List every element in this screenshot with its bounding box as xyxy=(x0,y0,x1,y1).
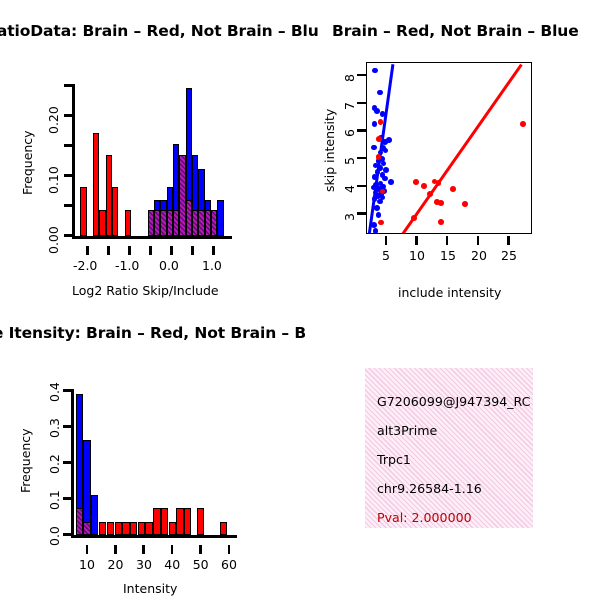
scatter-ylabel: skip intensity xyxy=(322,109,337,192)
scatter-point xyxy=(388,179,394,185)
hist-bar xyxy=(184,508,191,535)
scatter-point xyxy=(421,183,427,189)
scatter-x-tick-20 xyxy=(477,236,480,245)
hist-bar xyxy=(122,522,129,535)
scatter-xlabel: include intensity xyxy=(398,285,501,300)
scatter-y-tick-8 xyxy=(357,74,366,77)
hist-bar xyxy=(161,508,168,535)
hist-bar xyxy=(169,522,176,535)
scatter-point xyxy=(372,68,378,74)
scatter-y-tick-6 xyxy=(357,129,366,132)
info-line-2: Trpc1 xyxy=(377,452,411,467)
info-line-4: Pval: 2.000000 xyxy=(377,510,472,525)
hist-bar-overlap xyxy=(83,522,90,535)
scatter-point xyxy=(372,121,378,127)
panel-intensity-scatter: Brain – Red, Not Brain – Blue skip inten… xyxy=(300,0,600,300)
scatter-x-ticklabel-2: 15 xyxy=(440,248,456,263)
hist-bar xyxy=(153,508,160,535)
scatter-y-ticklabel-0: 3 xyxy=(342,213,357,221)
hist-bar xyxy=(99,522,106,535)
scatter-y-tick-4 xyxy=(357,185,366,188)
hist-bar xyxy=(115,522,122,535)
scatter-y-tick-3 xyxy=(357,212,366,215)
scatter-point xyxy=(376,212,382,218)
panel-ratio-histogram: RatioData: Brain – Red, Not Brain – Blu … xyxy=(0,0,300,300)
scatter-y-ticklabel-5: 8 xyxy=(342,74,357,82)
scatter-point xyxy=(383,148,389,154)
hist-bar xyxy=(217,200,223,236)
scatter-point xyxy=(520,121,526,127)
hist-bar xyxy=(130,522,137,535)
scatter-y-tick-5 xyxy=(357,157,366,160)
scatter-y-tick-7 xyxy=(357,102,366,105)
info-line-1: alt3Prime xyxy=(377,423,437,438)
scatter-point xyxy=(438,219,444,225)
scatter-point xyxy=(373,228,379,234)
hist-bar xyxy=(176,508,183,535)
scatter-x-tick-25 xyxy=(507,236,510,245)
scatter-point xyxy=(377,199,383,205)
scatter-point xyxy=(378,220,384,226)
scatter-point xyxy=(438,200,444,206)
scatter-plot-area xyxy=(366,62,532,234)
hist-bar xyxy=(112,187,118,236)
scatter-point xyxy=(380,111,386,117)
scatter-x-tick-10 xyxy=(415,236,418,245)
scatter-point xyxy=(371,145,377,151)
scatter-point xyxy=(413,179,419,185)
scatter-x-ticklabel-4: 25 xyxy=(501,248,517,263)
scatter-point xyxy=(371,222,377,228)
hist-bar xyxy=(91,495,98,535)
info-line-3: chr9.26584-1.16 xyxy=(377,481,482,496)
scatter-point xyxy=(411,215,417,221)
hist-bar-overlap xyxy=(76,508,83,535)
scatter-y-ticklabel-1: 4 xyxy=(342,185,357,193)
probe-annotation-panel: G7206099@J947394_RCalt3PrimeTrpc1chr9.26… xyxy=(365,368,533,528)
ratio-histogram-bars xyxy=(0,0,300,300)
scatter-x-ticklabel-0: 5 xyxy=(382,248,390,263)
scatter-point xyxy=(376,136,382,142)
scatter-x-ticklabel-3: 20 xyxy=(471,248,487,263)
scatter-point xyxy=(377,90,383,96)
hist-bar xyxy=(80,187,86,236)
hist-bar xyxy=(125,210,131,236)
scatter-point xyxy=(427,191,433,197)
scatter-y-ticklabel-4: 7 xyxy=(342,102,357,110)
scatter-x-ticklabel-1: 10 xyxy=(409,248,425,263)
scatter-point xyxy=(372,174,378,180)
scatter-y-ticklabel-3: 6 xyxy=(342,129,357,137)
intensity-histogram-bars xyxy=(0,300,300,600)
scatter-point xyxy=(462,201,468,207)
info-line-0: G7206099@J947394_RC xyxy=(377,394,530,409)
scatter-point xyxy=(436,180,442,186)
scatter-x-tick-5 xyxy=(385,236,388,245)
scatter-point xyxy=(374,108,380,114)
hist-bar xyxy=(220,522,227,535)
scatter-x-tick-15 xyxy=(446,236,449,245)
scatter-title: Brain – Red, Not Brain – Blue xyxy=(332,22,579,40)
hist-bar xyxy=(145,522,152,535)
panel-intensity-histogram: ne Itensity: Brain – Red, Not Brain – B … xyxy=(0,300,300,600)
scatter-point xyxy=(450,186,456,192)
scatter-y-ticklabel-2: 5 xyxy=(342,157,357,165)
scatter-point xyxy=(382,176,388,182)
hist-bar xyxy=(197,508,204,535)
regression-line xyxy=(400,64,523,234)
scatter-point xyxy=(382,139,388,145)
hist-bar xyxy=(107,522,114,535)
hist-bar xyxy=(138,522,145,535)
scatter-point xyxy=(378,119,384,125)
scatter-point xyxy=(374,205,380,211)
